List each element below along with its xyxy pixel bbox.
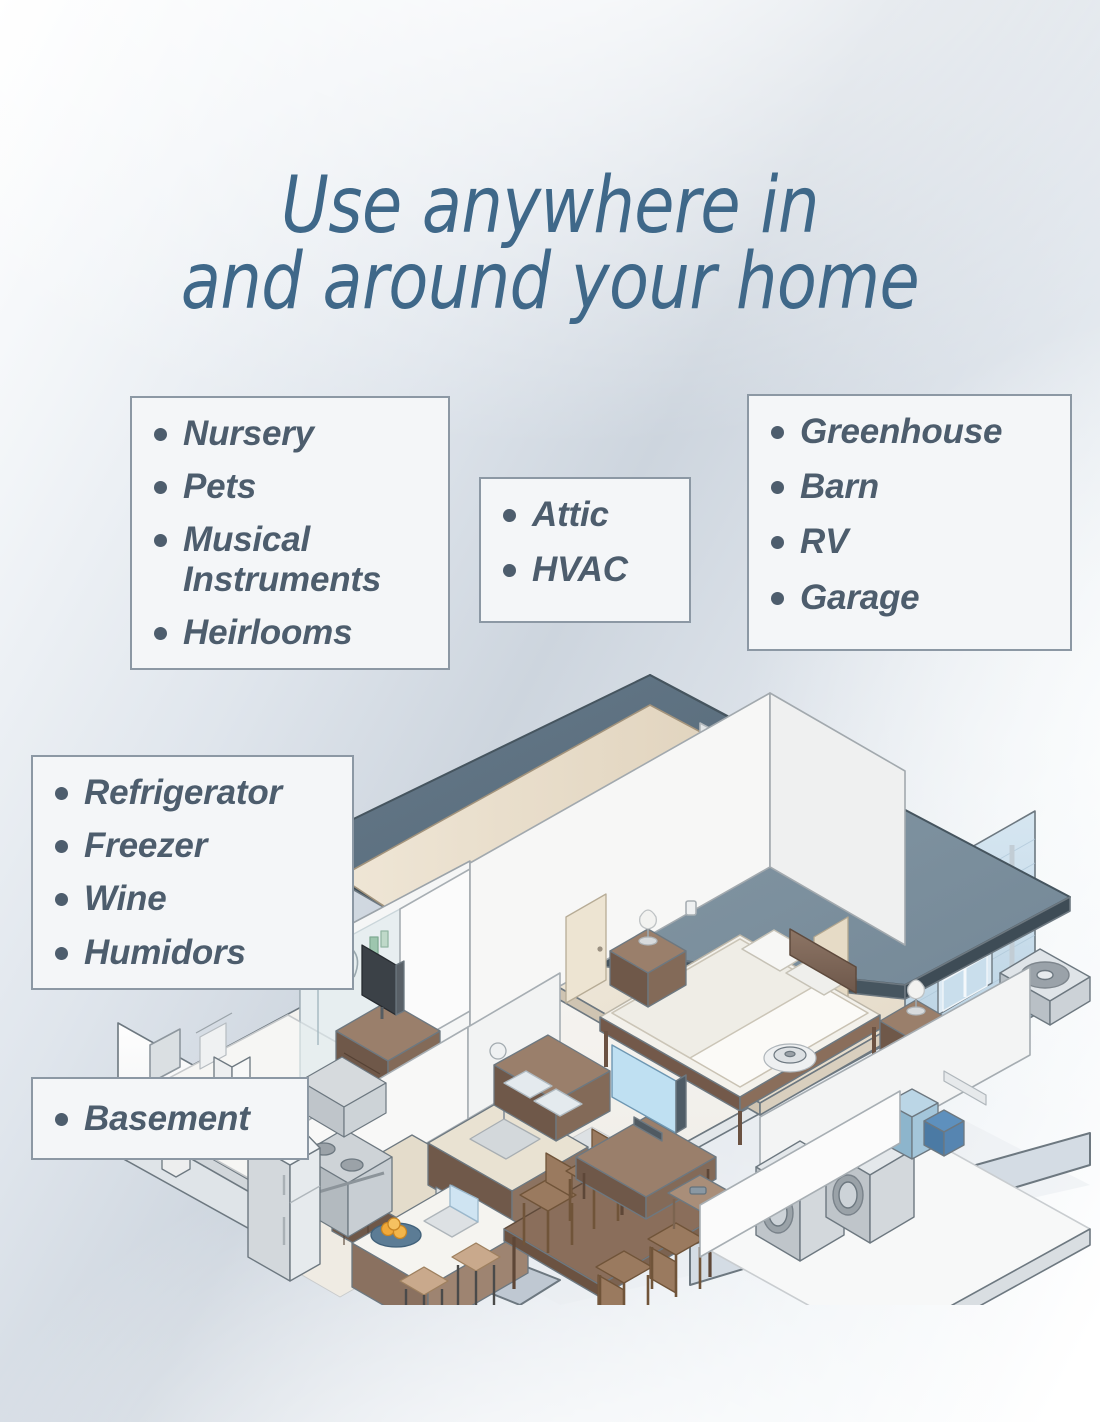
list-item-label: Garage	[800, 578, 919, 617]
list-item-label: Attic	[532, 495, 609, 534]
callout-attic-systems[interactable]: Attic HVAC	[479, 477, 691, 623]
list-item-label: Nursery	[183, 414, 314, 453]
attic-list: Attic HVAC	[503, 495, 675, 589]
bullet-icon	[55, 947, 68, 960]
list-item-label: Greenhouse	[800, 412, 1002, 451]
list-item[interactable]: Heirlooms	[154, 613, 434, 652]
list-item[interactable]: RV	[771, 522, 1056, 561]
bullet-icon	[154, 627, 167, 640]
list-item[interactable]: Refrigerator	[55, 773, 338, 812]
list-item[interactable]: Nursery	[154, 414, 434, 453]
list-item-label: HVAC	[532, 550, 628, 589]
list-item-label: Pets	[183, 467, 256, 506]
list-item[interactable]: Barn	[771, 467, 1056, 506]
list-item-label: RV	[800, 522, 848, 561]
bullet-icon	[55, 1113, 68, 1126]
list-item-label: Basement	[84, 1099, 250, 1138]
indoor-list: Nursery Pets Musical Instruments Heirloo…	[154, 414, 434, 652]
list-item-label: Barn	[800, 467, 879, 506]
list-item[interactable]: Attic	[503, 495, 675, 534]
bullet-icon	[154, 428, 167, 441]
bullet-icon	[771, 592, 784, 605]
callout-outdoor-spaces[interactable]: Greenhouse Barn RV Garage	[747, 394, 1072, 651]
list-item[interactable]: Freezer	[55, 826, 338, 865]
infographic-canvas: Use anywhere in and around your home	[0, 0, 1100, 1422]
page-title: Use anywhere in and around your home	[39, 168, 1062, 321]
callout-indoor-valuables[interactable]: Nursery Pets Musical Instruments Heirloo…	[130, 396, 450, 670]
outdoor-list: Greenhouse Barn RV Garage	[771, 412, 1056, 617]
list-item[interactable]: Musical Instruments	[154, 520, 434, 598]
bullet-icon	[154, 481, 167, 494]
list-item[interactable]: Wine	[55, 879, 338, 918]
bullet-icon	[55, 840, 68, 853]
bullet-icon	[55, 787, 68, 800]
list-item-label: Humidors	[84, 933, 246, 972]
list-item[interactable]: Garage	[771, 578, 1056, 617]
appliance-list: Refrigerator Freezer Wine Humidors	[55, 773, 338, 972]
list-item[interactable]: Humidors	[55, 933, 338, 972]
bullet-icon	[771, 481, 784, 494]
callout-basement[interactable]: Basement	[31, 1077, 309, 1160]
list-item-label: Freezer	[84, 826, 207, 865]
callout-cold-storage[interactable]: Refrigerator Freezer Wine Humidors	[31, 755, 354, 990]
list-item[interactable]: HVAC	[503, 550, 675, 589]
list-item[interactable]: Greenhouse	[771, 412, 1056, 451]
list-item[interactable]: Basement	[55, 1099, 293, 1138]
bullet-icon	[771, 426, 784, 439]
bullet-icon	[503, 509, 516, 522]
list-item-label: Refrigerator	[84, 773, 282, 812]
bullet-icon	[55, 893, 68, 906]
list-item[interactable]: Pets	[154, 467, 434, 506]
list-item-label: Heirlooms	[183, 613, 352, 652]
list-item-label: Wine	[84, 879, 167, 918]
basement-list: Basement	[55, 1099, 293, 1138]
bullet-icon	[771, 536, 784, 549]
robot-vacuum	[764, 1044, 816, 1072]
list-item-label: Musical Instruments	[183, 520, 434, 598]
bullet-icon	[154, 534, 167, 547]
bullet-icon	[503, 564, 516, 577]
